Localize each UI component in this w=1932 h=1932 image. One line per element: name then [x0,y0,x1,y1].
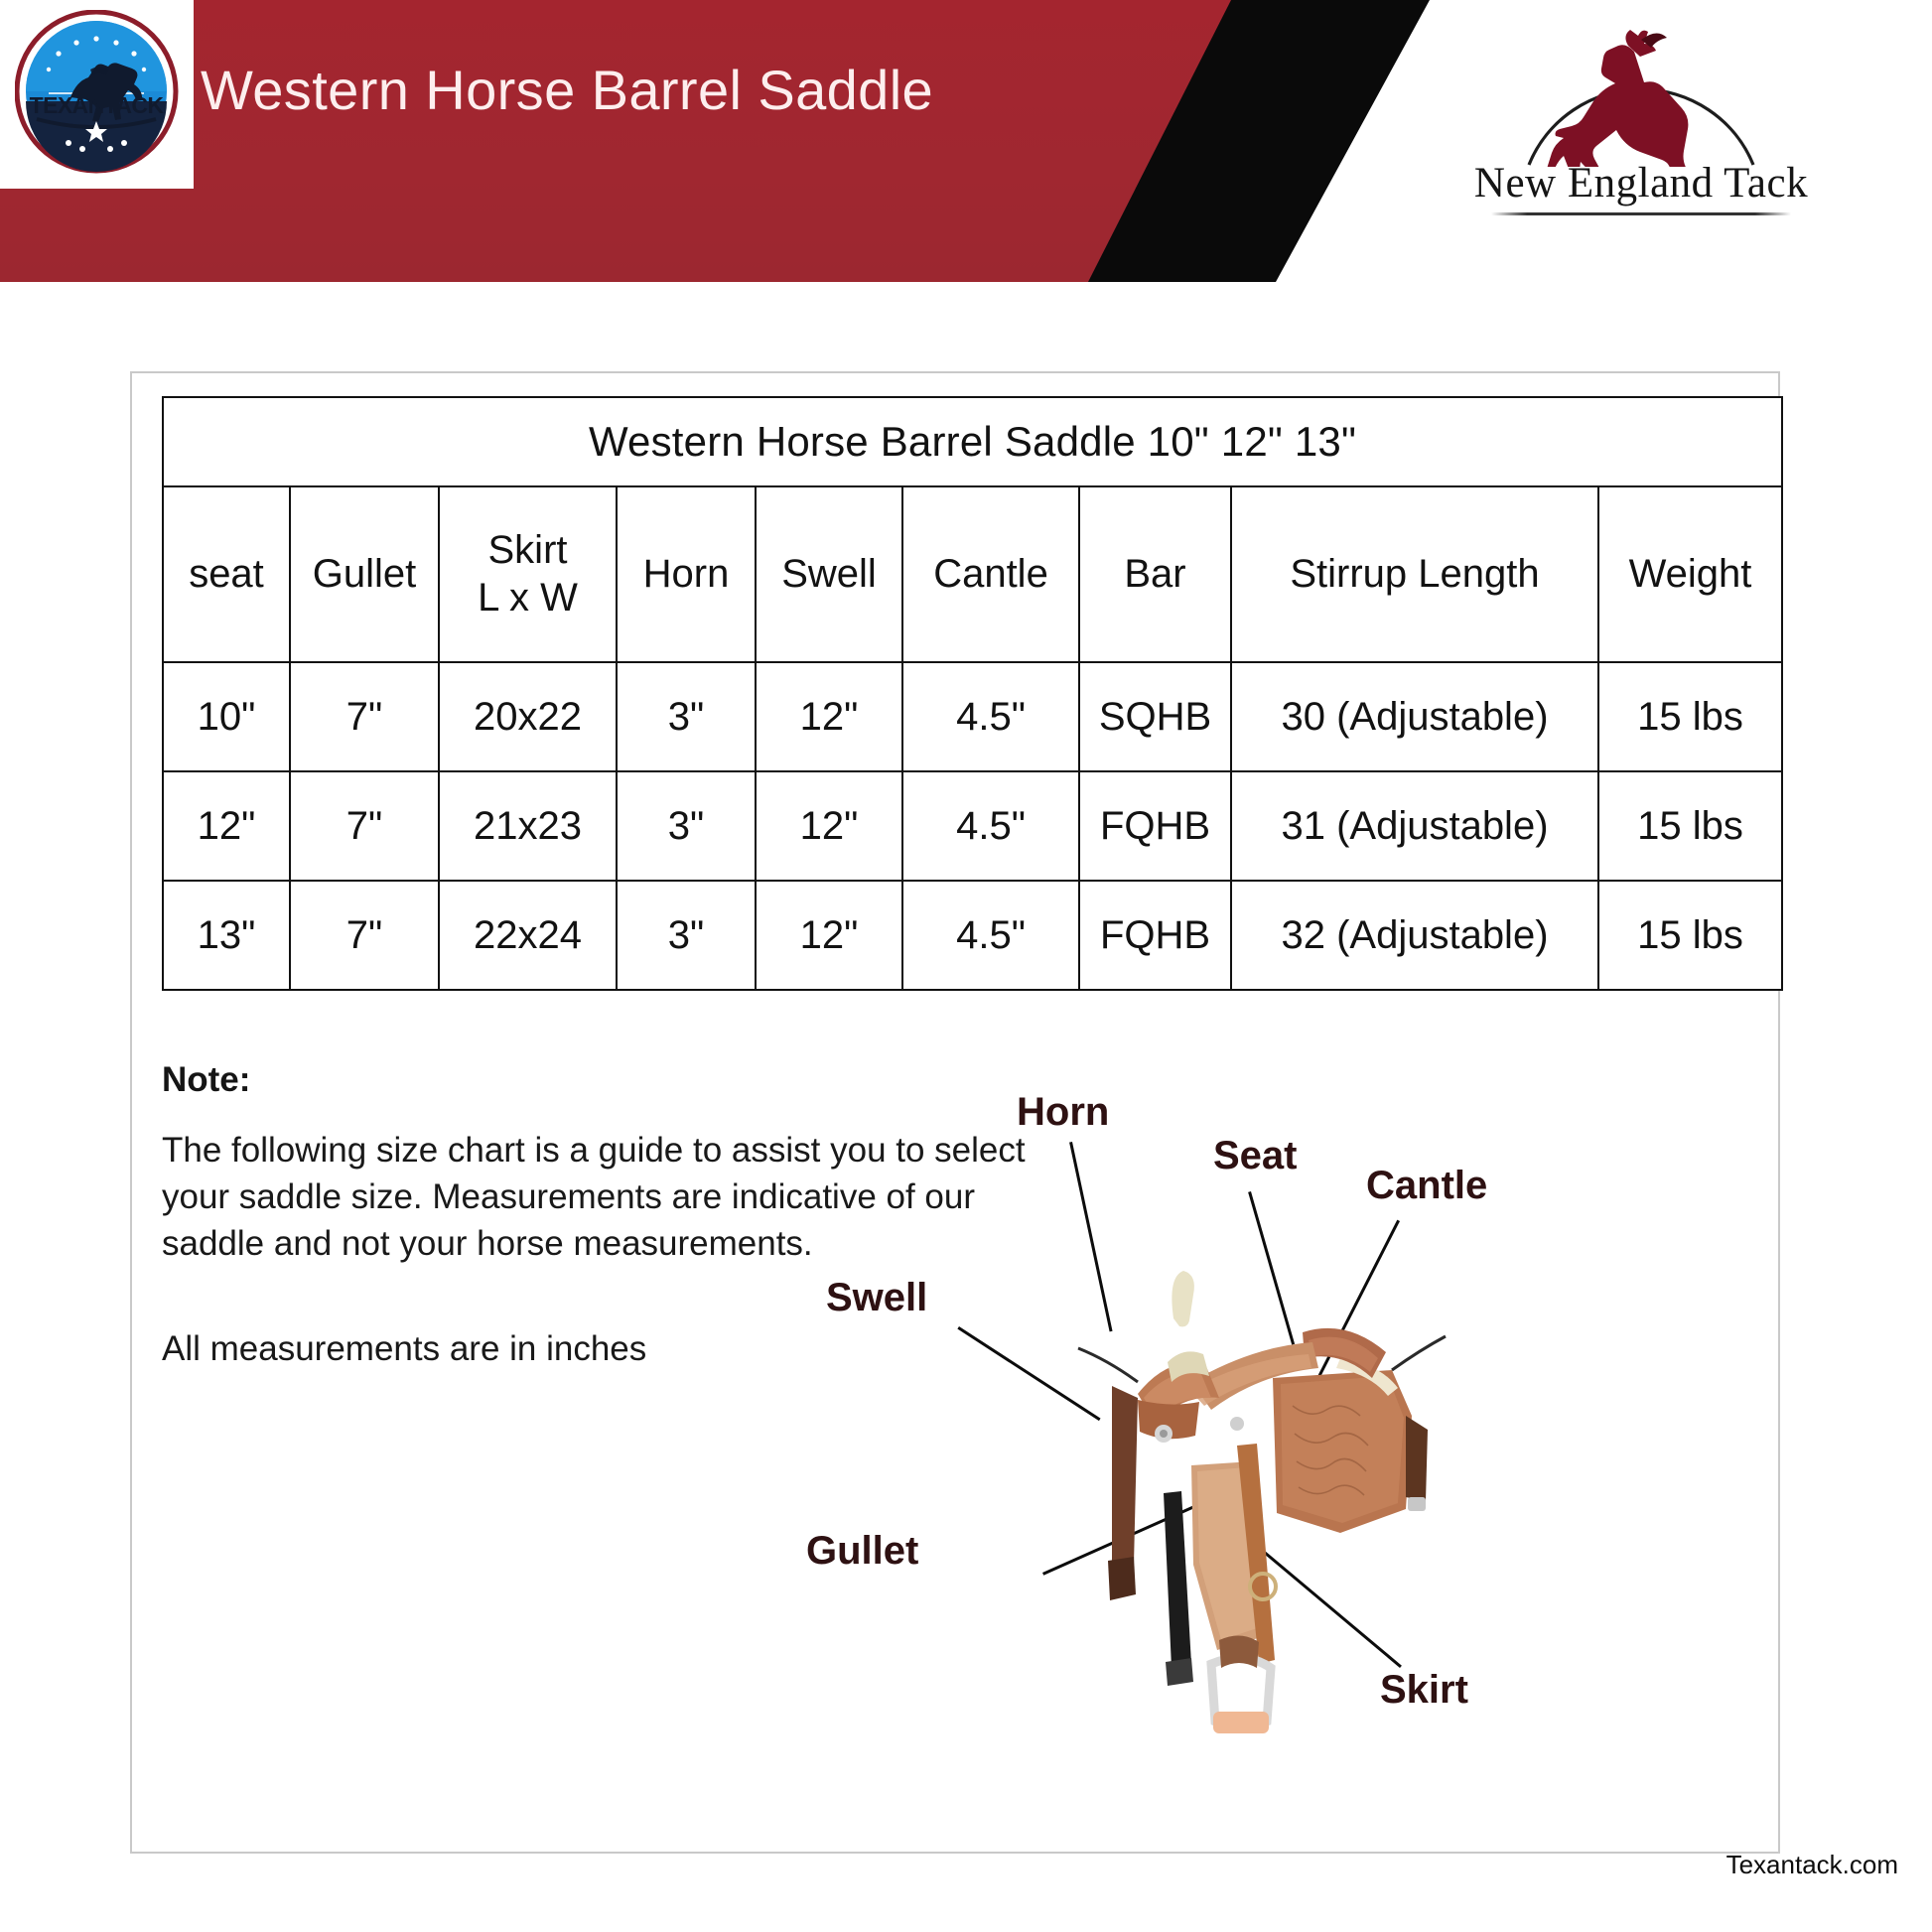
page-header: Western Horse Barrel Saddle [0,0,1932,288]
cell-swell: 12" [756,662,902,771]
diagram-label-seat: Seat [1213,1134,1298,1178]
col-header-stirrup-length: Stirrup Length [1231,486,1598,662]
footer-site: Texantack.com [1726,1850,1898,1880]
cell-horn: 3" [617,881,756,990]
svg-text:TEXANTACK: TEXANTACK [30,92,165,118]
col-header-skirt-sub: L x W [478,576,578,620]
cell-horn: 3" [617,662,756,771]
rearing-horse-icon [1467,18,1815,167]
table-header-row: seat Gullet Skirt L x W Horn Swell Cantl… [163,486,1782,662]
cell-gullet: 7" [290,881,439,990]
texantack-logo-icon: TEXANTACK [15,10,179,174]
cell-seat: 13" [163,881,290,990]
cell-horn: 3" [617,771,756,881]
page-title: Western Horse Barrel Saddle [201,58,933,122]
cell-gullet: 7" [290,771,439,881]
cell-bar: FQHB [1079,881,1231,990]
cell-cantle: 4.5" [902,771,1079,881]
cell-skirt: 22x24 [439,881,617,990]
cell-seat: 10" [163,662,290,771]
partner-logo-rule [1491,212,1791,215]
size-chart-table: Western Horse Barrel Saddle 10" 12" 13" … [162,396,1783,991]
cell-weight: 15 lbs [1598,881,1782,990]
col-header-seat: seat [163,486,290,662]
partner-logo-wordmark: New England Tack [1467,159,1815,207]
col-header-skirt-main: Skirt [488,528,568,572]
cell-cantle: 4.5" [902,662,1079,771]
cell-skirt: 20x22 [439,662,617,771]
table-row: 10" 7" 20x22 3" 12" 4.5" SQHB 30 (Adjust… [163,662,1782,771]
col-header-bar: Bar [1079,486,1231,662]
col-header-swell: Swell [756,486,902,662]
cell-cantle: 4.5" [902,881,1079,990]
diagram-label-swell: Swell [826,1276,927,1320]
col-header-weight: Weight [1598,486,1782,662]
diagram-label-gullet: Gullet [806,1529,918,1574]
saddle-image [1042,1267,1469,1783]
col-header-gullet: Gullet [290,486,439,662]
col-header-cantle: Cantle [902,486,1079,662]
table-row: 12" 7" 21x23 3" 12" 4.5" FQHB 31 (Adjust… [163,771,1782,881]
cell-swell: 12" [756,771,902,881]
cell-weight: 15 lbs [1598,771,1782,881]
table-title: Western Horse Barrel Saddle 10" 12" 13" [163,397,1782,486]
diagram-label-cantle: Cantle [1366,1164,1487,1208]
cell-gullet: 7" [290,662,439,771]
cell-skirt: 21x23 [439,771,617,881]
diagram-label-horn: Horn [1017,1090,1109,1135]
cell-swell: 12" [756,881,902,990]
cell-bar: FQHB [1079,771,1231,881]
texantack-logo: TEXANTACK [0,0,194,189]
cell-weight: 15 lbs [1598,662,1782,771]
cell-bar: SQHB [1079,662,1231,771]
table-row: 13" 7" 22x24 3" 12" 4.5" FQHB 32 (Adjust… [163,881,1782,990]
cell-stirrup: 31 (Adjustable) [1231,771,1598,881]
col-header-horn: Horn [617,486,756,662]
saddle-diagram: Horn Seat Cantle Swell Gullet Skirt [923,1072,1787,1807]
cell-stirrup: 30 (Adjustable) [1231,662,1598,771]
cell-stirrup: 32 (Adjustable) [1231,881,1598,990]
table-title-row: Western Horse Barrel Saddle 10" 12" 13" [163,397,1782,486]
col-header-skirt: Skirt L x W [439,486,617,662]
new-england-tack-logo: New England Tack [1467,18,1815,221]
cell-seat: 12" [163,771,290,881]
